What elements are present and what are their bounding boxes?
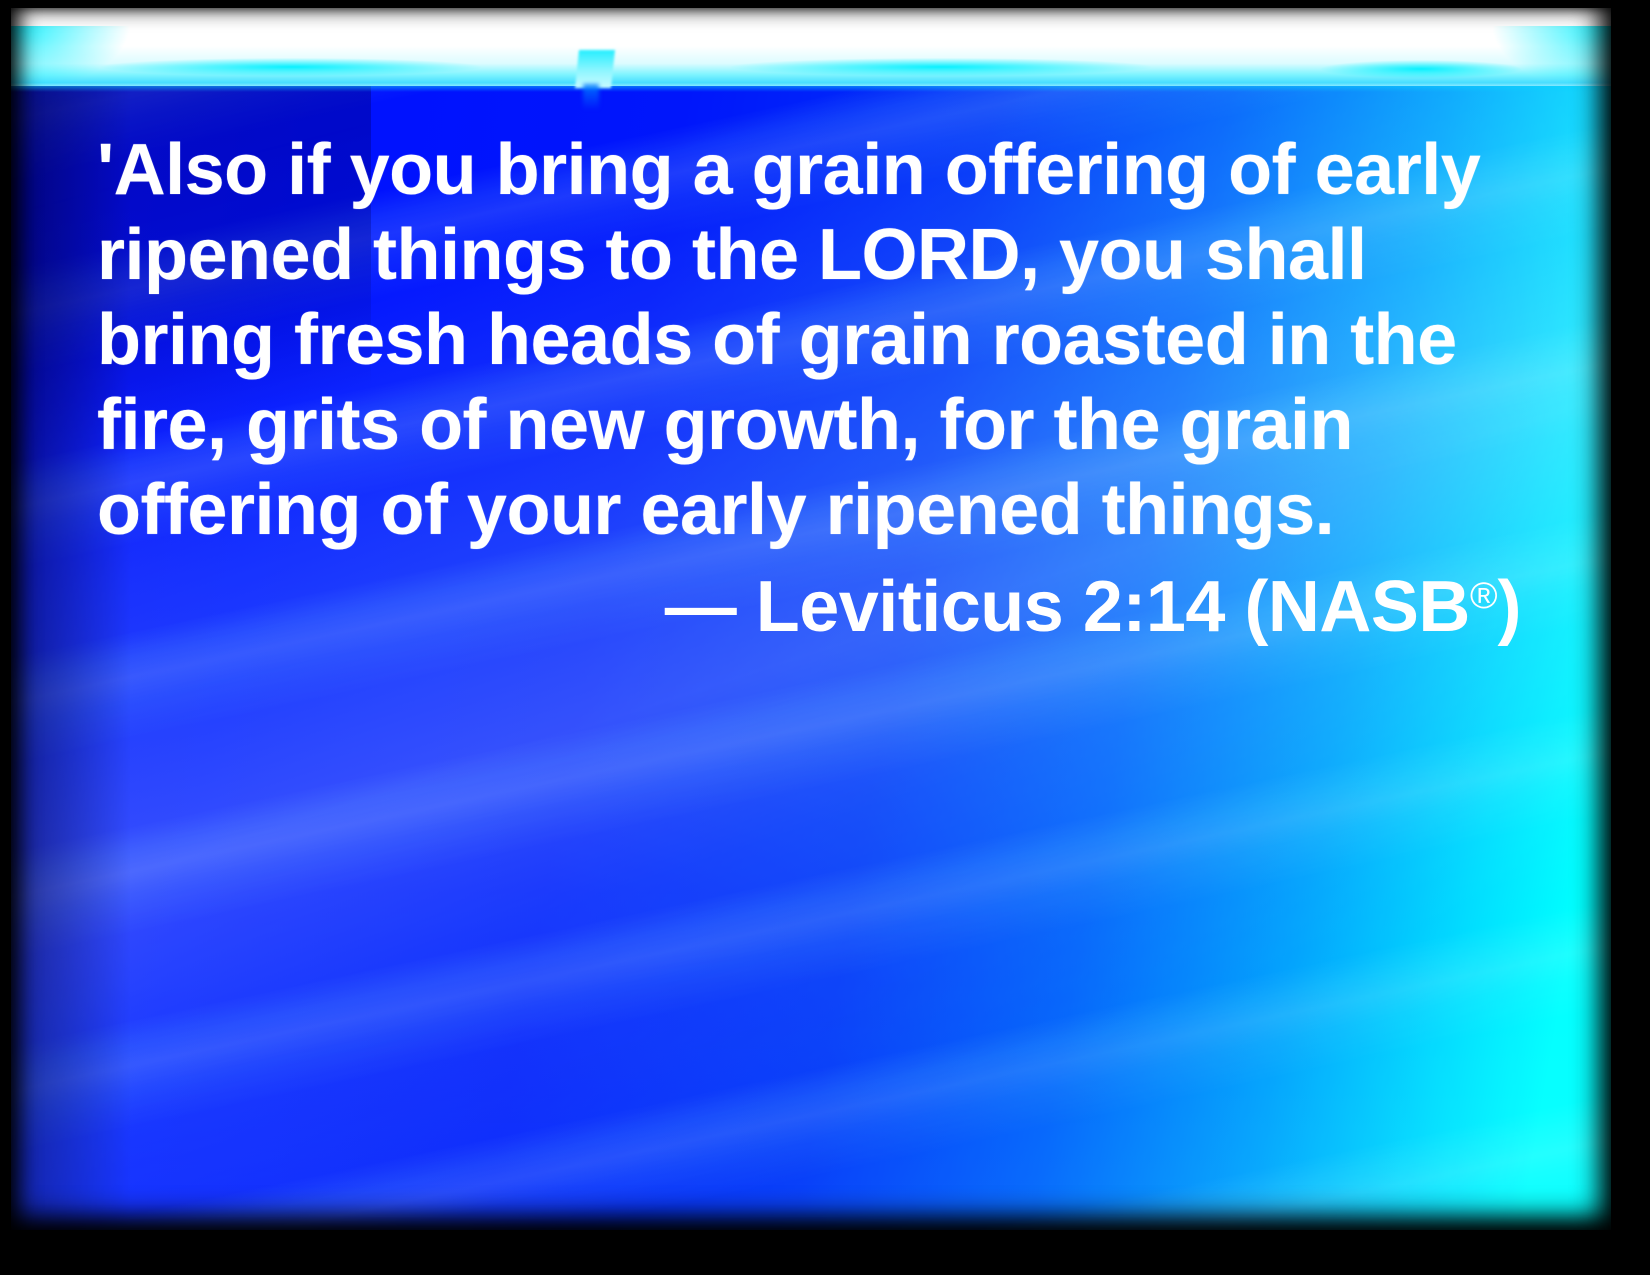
top-band-wisp-center	[731, 58, 1151, 76]
verse-citation: — Leviticus 2:14 (NASB®)	[97, 553, 1527, 650]
slide-frame: 'Also if you bring a grain offering of e…	[0, 0, 1650, 1275]
slide-canvas: 'Also if you bring a grain offering of e…	[11, 8, 1611, 1230]
verse-text-block: 'Also if you bring a grain offering of e…	[97, 128, 1527, 650]
registered-trademark-icon: ®	[1470, 574, 1498, 616]
top-band-corner-flare-left	[11, 26, 131, 92]
verse-line-1: 'Also if you bring a grain offering of e…	[97, 128, 1527, 213]
verse-line-2: ripened things to the LORD, you shall	[97, 213, 1527, 298]
citation-prefix: — Leviticus 2:14 (NASB	[665, 567, 1470, 647]
verse-line-3: bring fresh heads of grain roasted in th…	[97, 298, 1527, 383]
citation-suffix: )	[1498, 567, 1521, 647]
top-band-notch-icon	[575, 50, 615, 88]
top-band-notch-stem	[583, 84, 599, 110]
top-band-wisp-left	[101, 58, 481, 76]
top-band-corner-flare-right	[1491, 26, 1611, 92]
verse-line-4: fire, grits of new growth, for the grain	[97, 383, 1527, 468]
background-bottom-glow	[11, 890, 1611, 1230]
verse-line-5: offering of your early ripened things.	[97, 468, 1527, 553]
